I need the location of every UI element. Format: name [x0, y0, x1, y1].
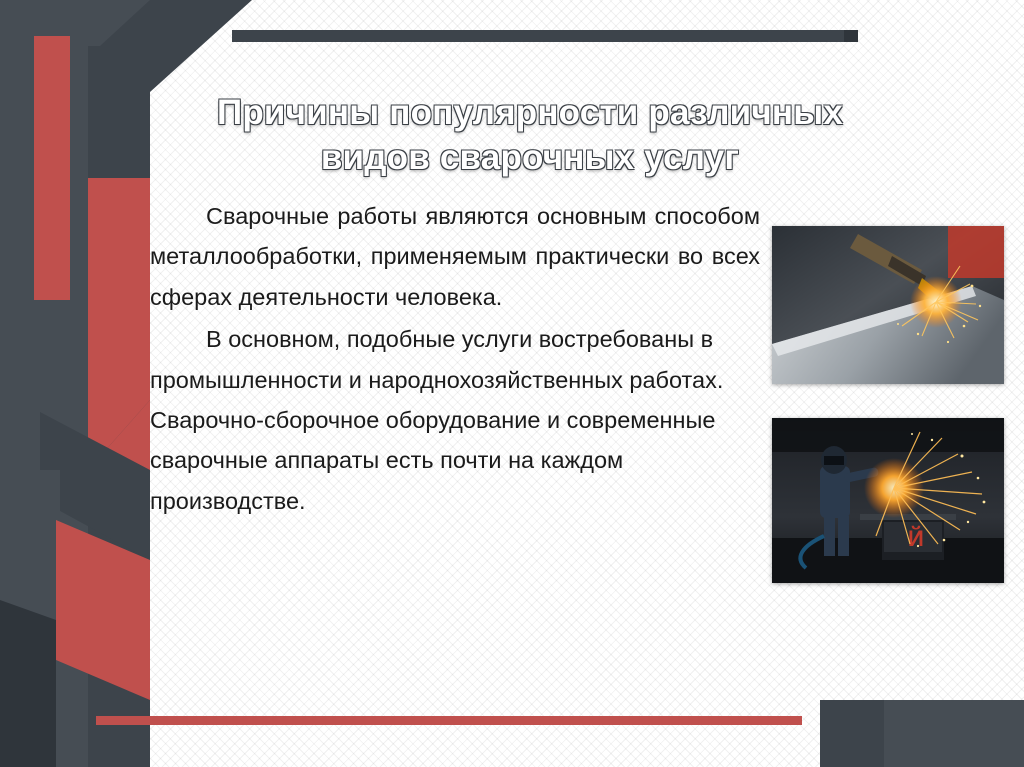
bottom-dark-block-inner	[884, 700, 1024, 767]
welder-sparks-illustration: Й	[772, 418, 1004, 583]
svg-text:Й: Й	[908, 526, 924, 551]
top-divider-bar-cap	[844, 30, 858, 42]
welding-torch-illustration	[772, 226, 1004, 384]
image-welder-sparks: Й	[772, 418, 1004, 583]
image-welding-torch	[772, 226, 1004, 384]
presentation-slide: Причины популярности различных видов сва…	[0, 0, 1024, 767]
slide-body-text: Сварочные работы являются основным спосо…	[150, 196, 760, 523]
paragraph-2: В основном, подобные услуги востребованы…	[150, 319, 760, 521]
top-divider-bar	[232, 30, 844, 42]
slide-title: Причины популярности различных видов сва…	[170, 91, 890, 181]
bottom-red-bar	[96, 716, 802, 725]
paragraph-1: Сварочные работы являются основным спосо…	[150, 196, 760, 317]
